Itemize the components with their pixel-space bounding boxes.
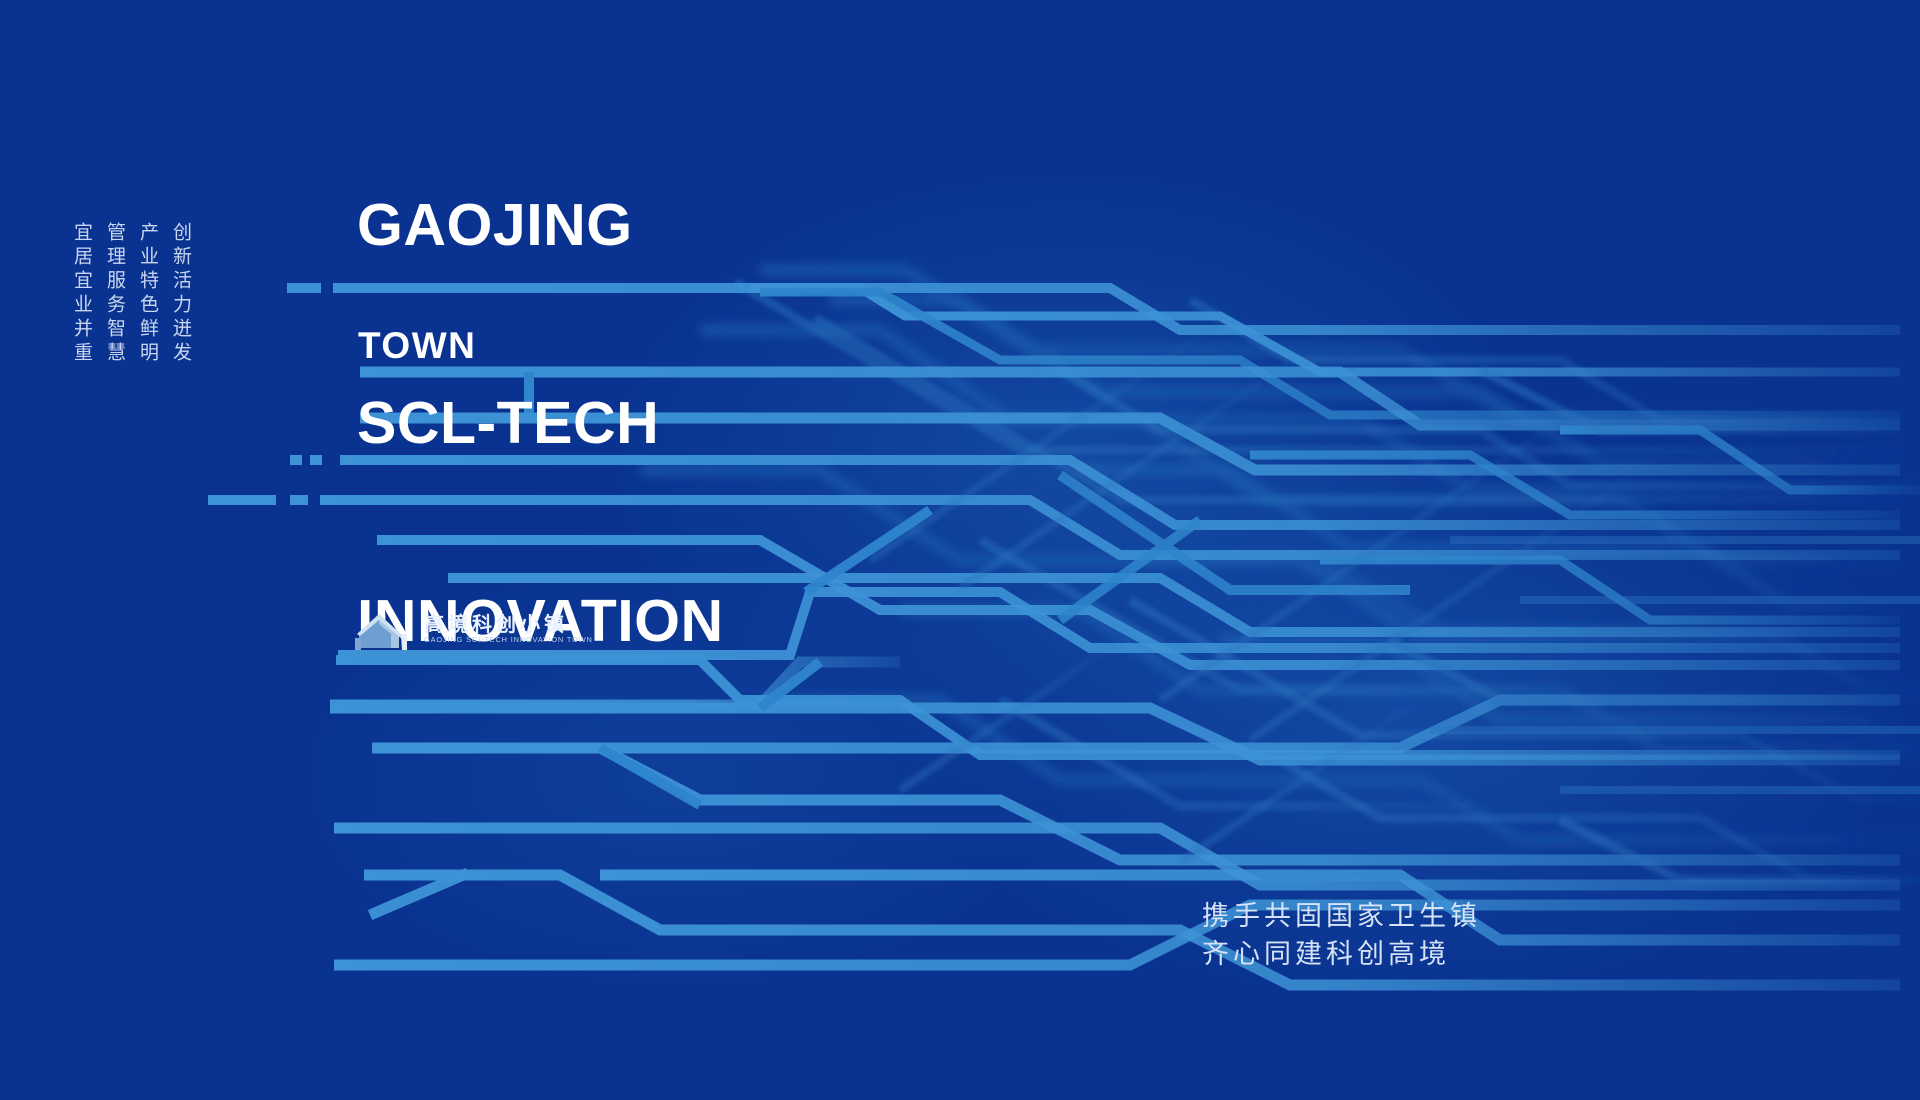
house-roof-icon — [355, 608, 415, 650]
vertical-slogan-column-1: 创新活力迸发 — [171, 222, 190, 412]
vertical-slogan-column-3: 管理服务智慧 — [105, 222, 124, 412]
brand-logo: 高境科创小镇 GAOJING SCI-TECH INNOVATION TOWN — [355, 608, 593, 650]
glow-upper-right — [620, 180, 1520, 740]
vertical-slogan-column-4: 宜居宜业并重 — [72, 222, 91, 412]
bottom-slogan: 携手共固国家卫生镇 齐心同建科创高境 — [1202, 898, 1481, 974]
brand-logo-text: 高境科创小镇 GAOJING SCI-TECH INNOVATION TOWN — [424, 614, 593, 643]
circuit-trace-graphic — [0, 0, 1920, 1100]
vertical-slogan-column-2: 产业特色鲜明 — [138, 222, 157, 412]
bottom-slogan-line-2: 齐心同建科创高境 — [1202, 936, 1481, 974]
headline-line-2: SCL-TECH — [357, 390, 724, 456]
headline-line-1: GAOJING — [357, 192, 724, 258]
page-title: GAOJING SCL-TECH INNOVATION — [357, 60, 724, 786]
brand-name-en: GAOJING SCI-TECH INNOVATION TOWN — [424, 636, 593, 643]
poster-canvas: GAOJING SCL-TECH INNOVATION TOWN 创新活力迸发 … — [0, 0, 1920, 1100]
headline-line-4: TOWN — [358, 325, 476, 367]
vertical-slogan: 创新活力迸发 产业特色鲜明 管理服务智慧 宜居宜业并重 — [72, 222, 190, 412]
bottom-slogan-line-1: 携手共固国家卫生镇 — [1202, 898, 1481, 936]
brand-name-cn: 高境科创小镇 — [424, 614, 593, 634]
